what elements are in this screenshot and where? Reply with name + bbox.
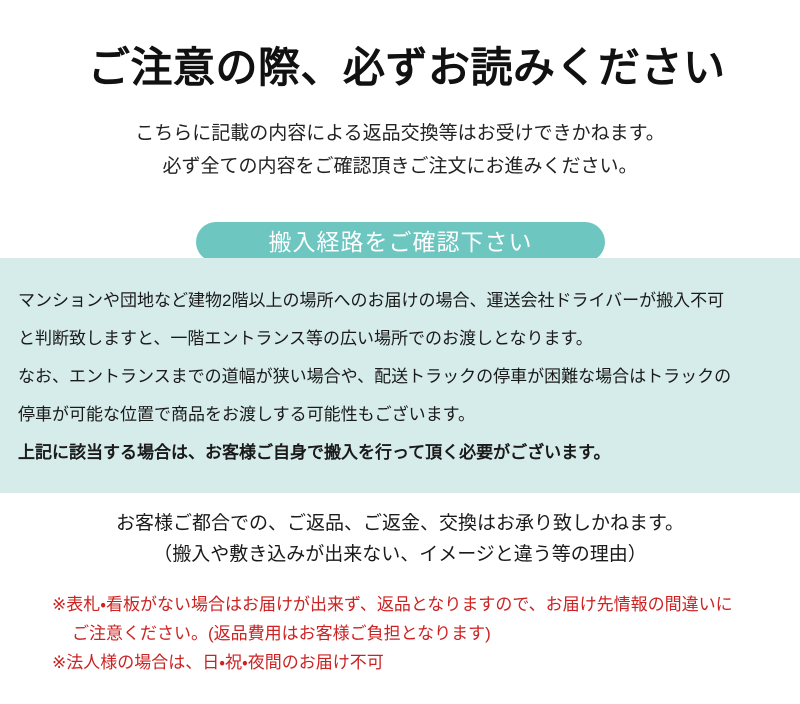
red-notice-section: ※表札・看板がない場合はお届けが出来ず、返品となりますので、お届け先情報の間違い… [52, 590, 792, 678]
red-notice-line-1: ※表札・看板がない場合はお届けが出来ず、返品となりますので、お届け先情報の間違い… [52, 590, 792, 619]
red-notice-line-3: ※法人様の場合は、日・祝・夜間のお届け不可 [52, 648, 792, 677]
delivery-route-line-2: と判断致しますと、一階エントランス等の広い場所でのお渡しとなります。 [18, 330, 782, 347]
lead-line-2: 必ず全ての内容をご確認頂きご注文にお進みください。 [0, 150, 800, 183]
delivery-route-section: マンションや団地など建物2階以上の場所へのお届けの場合、運送会社ドライバーが搬入… [0, 258, 800, 493]
delivery-route-line-1: マンションや団地など建物2階以上の場所へのお届けの場合、運送会社ドライバーが搬入… [18, 292, 782, 309]
red-notice-line-2: ご注意ください。(返品費用はお客様ご負担となります) [52, 619, 792, 648]
section-banner: 搬入経路をご確認下さい [0, 222, 800, 262]
page-title: ご注意の際、必ずお読みください [0, 44, 800, 91]
banner-pill-label: 搬入経路をご確認下さい [269, 231, 533, 254]
delivery-route-line-5-emphasis: 上記に該当する場合は、お客様ご自身で搬入を行って頂く必要がございます。 [18, 444, 782, 461]
lead-line-1: こちらに記載の内容による返品交換等はお受けできかねます。 [0, 117, 800, 150]
return-policy-line-1: お客様ご都合での、ご返品、ご返金、交換はお承り致しかねます。 [0, 508, 800, 539]
lead-paragraph: こちらに記載の内容による返品交換等はお受けできかねます。 必ず全ての内容をご確認… [0, 117, 800, 184]
notice-page: ご注意の際、必ずお読みください こちらに記載の内容による返品交換等はお受けできか… [0, 0, 800, 704]
banner-pill: 搬入経路をご確認下さい [196, 222, 605, 262]
heading-area: ご注意の際、必ずお読みください こちらに記載の内容による返品交換等はお受けできか… [0, 0, 800, 184]
return-policy-section: お客様ご都合での、ご返品、ご返金、交換はお承り致しかねます。 （搬入や敷き込みが… [0, 508, 800, 571]
return-policy-line-2: （搬入や敷き込みが出来ない、イメージと違う等の理由） [0, 539, 800, 570]
delivery-route-line-4: 停車が可能な位置で商品をお渡しする可能性もございます。 [18, 406, 782, 423]
delivery-route-line-3: なお、エントランスまでの道幅が狭い場合や、配送トラックの停車が困難な場合はトラッ… [18, 368, 782, 385]
